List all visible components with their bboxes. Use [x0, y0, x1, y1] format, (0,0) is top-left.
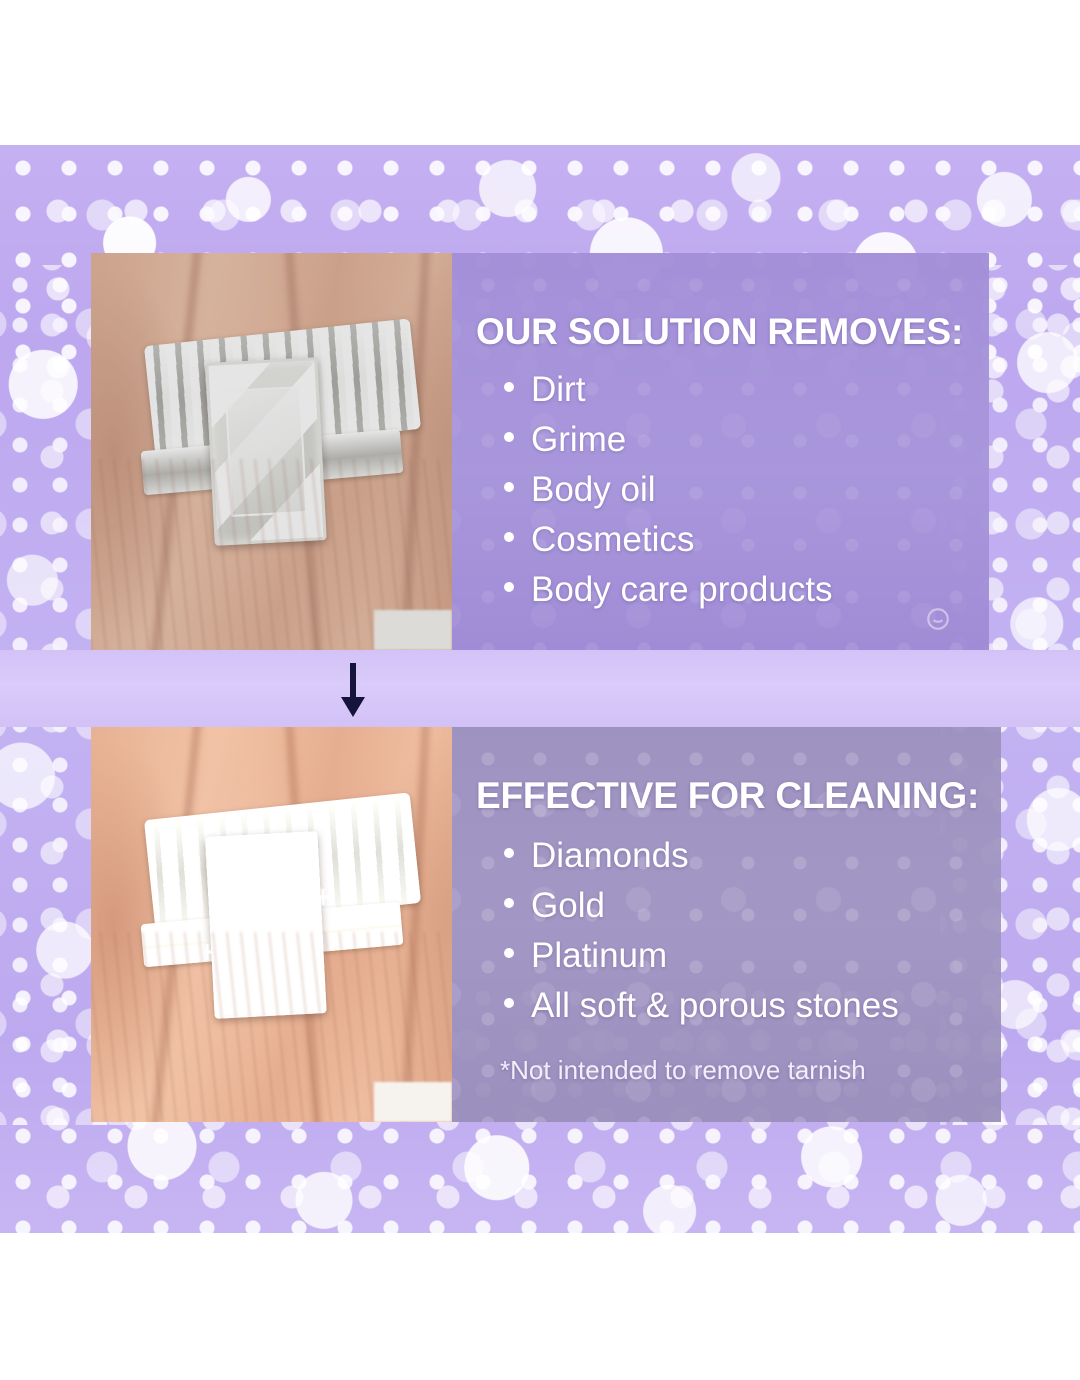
before-text-panel: OUR SOLUTION REMOVES: Dirt Grime Body	[452, 253, 989, 650]
after-text-panel: EFFECTIVE FOR CLEANING: Diamonds Gold	[452, 727, 1001, 1122]
after-photo	[91, 727, 452, 1122]
photo-corner-highlight	[374, 610, 452, 650]
after-row: EFFECTIVE FOR CLEANING: Diamonds Gold	[91, 727, 989, 1122]
list-item-label: Diamonds	[531, 831, 689, 881]
bullet-dot-icon	[504, 582, 514, 592]
infographic-canvas: OUR SOLUTION REMOVES: Dirt Grime Body	[0, 0, 1080, 1380]
bullet-dot-icon	[504, 482, 514, 492]
bullet-dot-icon	[504, 432, 514, 442]
list-item: Platinum	[504, 931, 979, 981]
list-item: Body care products	[504, 565, 967, 615]
sparkle-icon	[250, 846, 266, 862]
list-item: Body oil	[504, 465, 967, 515]
tarnish-disclaimer: *Not intended to remove tarnish	[500, 1055, 979, 1086]
list-item-label: All soft & porous stones	[531, 981, 899, 1031]
before-photo	[91, 253, 452, 650]
bullet-dot-icon	[504, 948, 514, 958]
watermark-icon	[925, 606, 951, 632]
bullet-dot-icon	[504, 382, 514, 392]
after-headline: EFFECTIVE FOR CLEANING:	[476, 775, 979, 817]
list-item: Gold	[504, 881, 979, 931]
before-row: OUR SOLUTION REMOVES: Dirt Grime Body	[91, 253, 989, 650]
bullet-dot-icon	[504, 532, 514, 542]
sparkle-icon	[315, 889, 331, 905]
list-item: Grime	[504, 415, 967, 465]
bullet-dot-icon	[504, 898, 514, 908]
photo-corner-highlight	[374, 1082, 452, 1122]
list-item-label: Cosmetics	[531, 515, 694, 565]
list-item-label: Gold	[531, 881, 605, 931]
list-item-label: Platinum	[531, 931, 667, 981]
list-item-label: Grime	[531, 415, 626, 465]
list-item: Diamonds	[504, 831, 979, 881]
bullet-dot-icon	[504, 848, 514, 858]
before-headline: OUR SOLUTION REMOVES:	[476, 311, 967, 353]
list-item-label: Dirt	[531, 365, 585, 415]
down-arrow-icon	[331, 661, 375, 719]
list-item-label: Body care products	[531, 565, 833, 615]
before-after-comparison: OUR SOLUTION REMOVES: Dirt Grime Body	[91, 253, 989, 1122]
transition-strip	[0, 650, 1080, 727]
effective-for-list: Diamonds Gold Platinum All soft & p	[476, 831, 979, 1031]
list-item: All soft & porous stones	[504, 981, 979, 1031]
removes-list: Dirt Grime Body oil Cosmetics	[476, 365, 967, 615]
list-item: Cosmetics	[504, 515, 967, 565]
bullet-dot-icon	[504, 998, 514, 1008]
list-item-label: Body oil	[531, 465, 656, 515]
list-item: Dirt	[504, 365, 967, 415]
